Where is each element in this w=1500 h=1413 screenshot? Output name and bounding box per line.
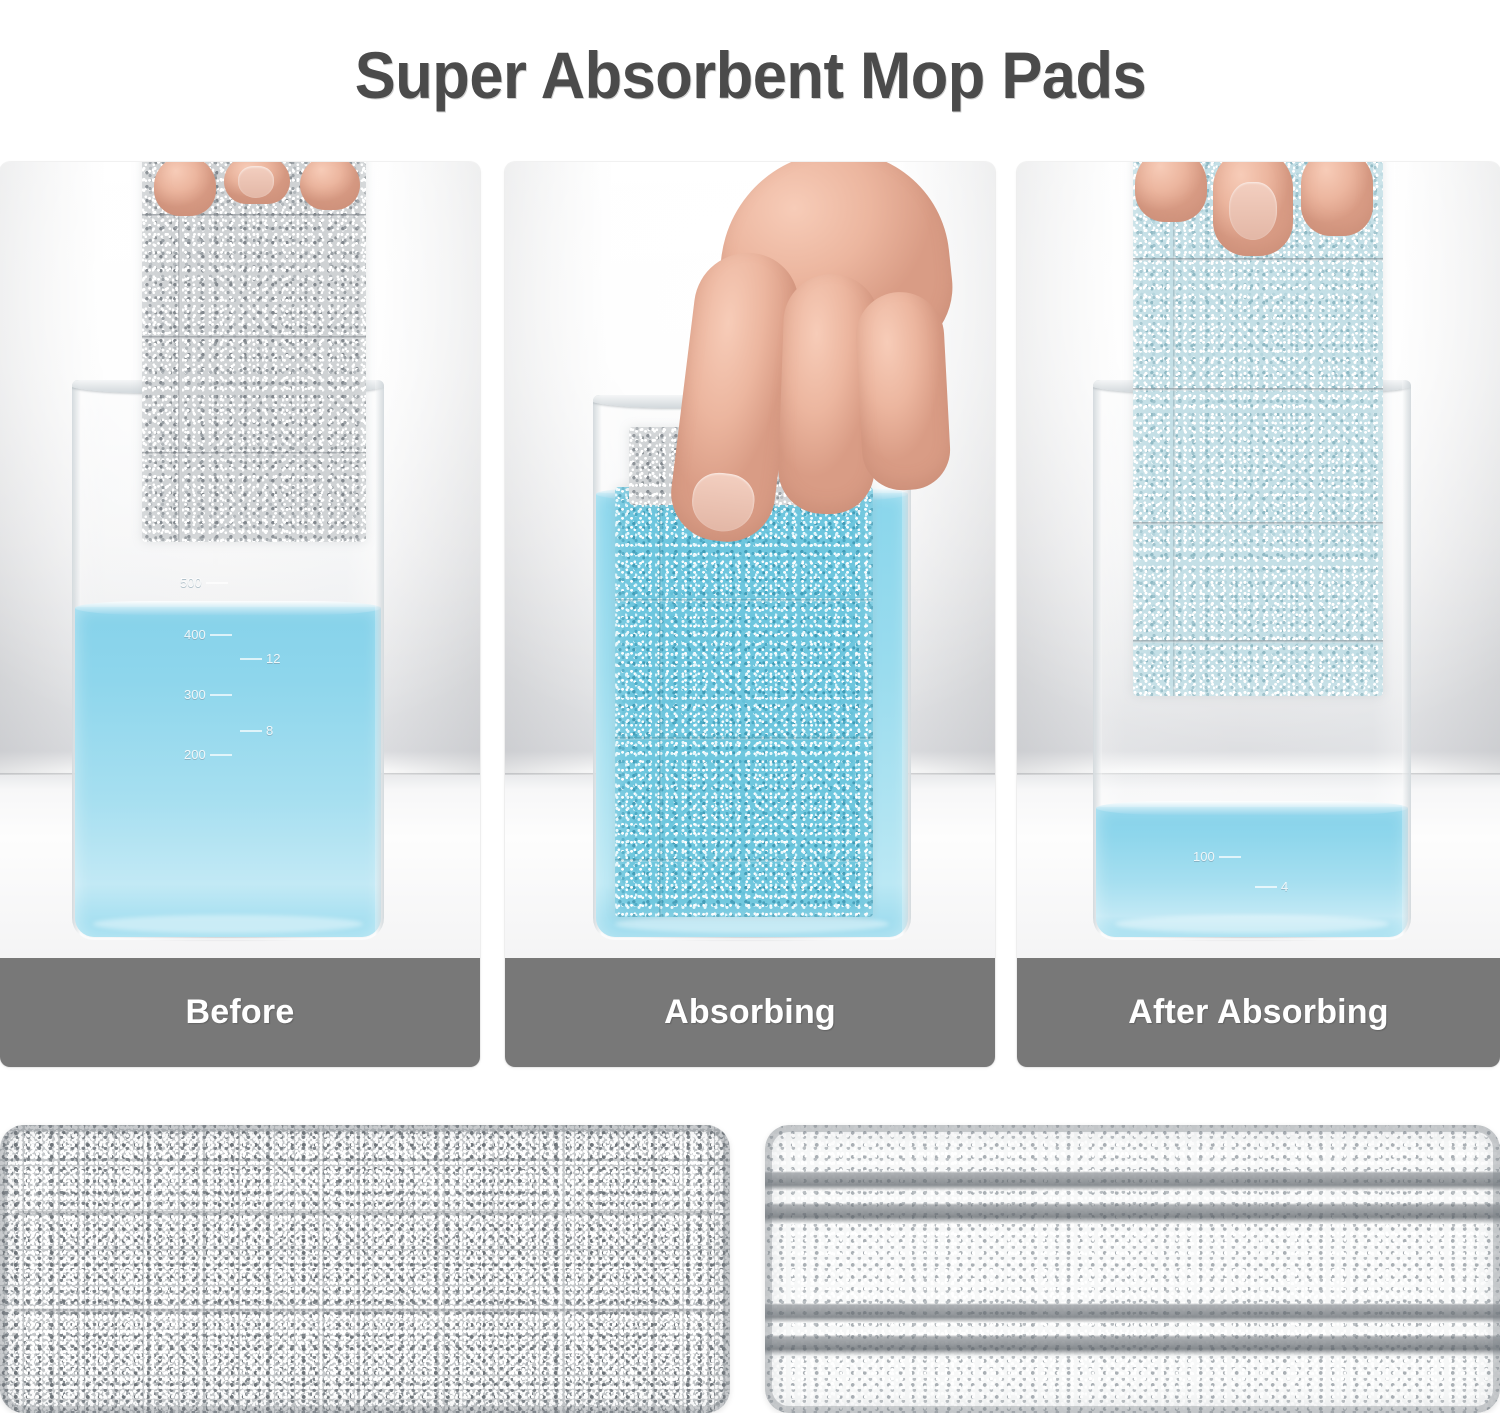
finger bbox=[154, 162, 216, 216]
pad-seam bbox=[615, 737, 873, 740]
finger bbox=[1301, 162, 1373, 236]
pad-seam bbox=[1133, 522, 1383, 525]
pad-seam bbox=[615, 599, 873, 602]
pad-seam bbox=[142, 452, 366, 455]
demo-panel-row: 500 400 300 200 bbox=[0, 162, 1500, 1067]
fingernail bbox=[238, 166, 274, 198]
page-title: Super Absorbent Mop Pads bbox=[354, 37, 1145, 113]
pad-stitched-border bbox=[765, 1125, 1500, 1413]
grad-ml-400: 400 bbox=[184, 628, 206, 641]
product-pad-striped bbox=[765, 1125, 1500, 1413]
grad-ml-100: 100 bbox=[1193, 850, 1215, 863]
fingernail bbox=[1229, 182, 1277, 240]
caption-label: Before bbox=[186, 993, 295, 1032]
hand-pressing-pad bbox=[623, 162, 983, 572]
caption-before: Before bbox=[0, 958, 480, 1067]
grad-oz-12: 12 bbox=[266, 652, 280, 665]
grad-tick bbox=[240, 730, 262, 732]
photo-before: 500 400 300 200 bbox=[0, 162, 480, 958]
thumb bbox=[1213, 162, 1293, 256]
product-pad-gray bbox=[0, 1125, 730, 1413]
grad-tick bbox=[1219, 856, 1241, 858]
grad-tick bbox=[210, 754, 232, 756]
product-photo-row bbox=[0, 1125, 1500, 1413]
caption-label: Absorbing bbox=[664, 993, 836, 1032]
caption-after-absorbing: After Absorbing bbox=[1017, 958, 1500, 1067]
pad-seam bbox=[1133, 388, 1383, 391]
pad-seam bbox=[1133, 258, 1383, 261]
fingernail bbox=[689, 470, 758, 535]
grad-tick bbox=[206, 582, 228, 584]
grad-ml-300: 300 bbox=[184, 688, 206, 701]
photo-after-absorbing: 100 4 bbox=[1017, 162, 1500, 958]
grad-ml-500: 500 bbox=[180, 576, 202, 589]
pad-seam bbox=[615, 859, 873, 862]
pad-stitched-border bbox=[0, 1125, 730, 1413]
product-infographic: Super Absorbent Mop Pads bbox=[0, 0, 1500, 1413]
finger bbox=[300, 162, 360, 210]
demo-panel-after-absorbing: 100 4 bbox=[1017, 162, 1500, 1067]
caption-absorbing: Absorbing bbox=[505, 958, 995, 1067]
ring-finger bbox=[854, 290, 952, 492]
demo-panel-before: 500 400 300 200 bbox=[0, 162, 480, 1067]
grad-oz-8: 8 bbox=[266, 724, 273, 737]
pad-seam bbox=[1133, 640, 1383, 643]
liquid-base-highlight bbox=[615, 915, 890, 933]
grad-oz-4: 4 bbox=[1281, 880, 1288, 893]
hand-holding-pad bbox=[130, 162, 380, 236]
thumb bbox=[224, 162, 290, 204]
finger bbox=[1135, 162, 1207, 222]
pad-seam bbox=[142, 336, 366, 339]
grad-tick bbox=[1255, 886, 1277, 888]
demo-panel-absorbing: Absorbing bbox=[505, 162, 995, 1067]
title-bar: Super Absorbent Mop Pads bbox=[0, 0, 1500, 150]
caption-label: After Absorbing bbox=[1128, 993, 1389, 1032]
hand-lifting-pad bbox=[1125, 162, 1401, 258]
grad-tick bbox=[210, 694, 232, 696]
grad-tick bbox=[240, 658, 262, 660]
grad-ml-200: 200 bbox=[184, 748, 206, 761]
grad-tick bbox=[210, 634, 232, 636]
photo-absorbing bbox=[505, 162, 995, 958]
